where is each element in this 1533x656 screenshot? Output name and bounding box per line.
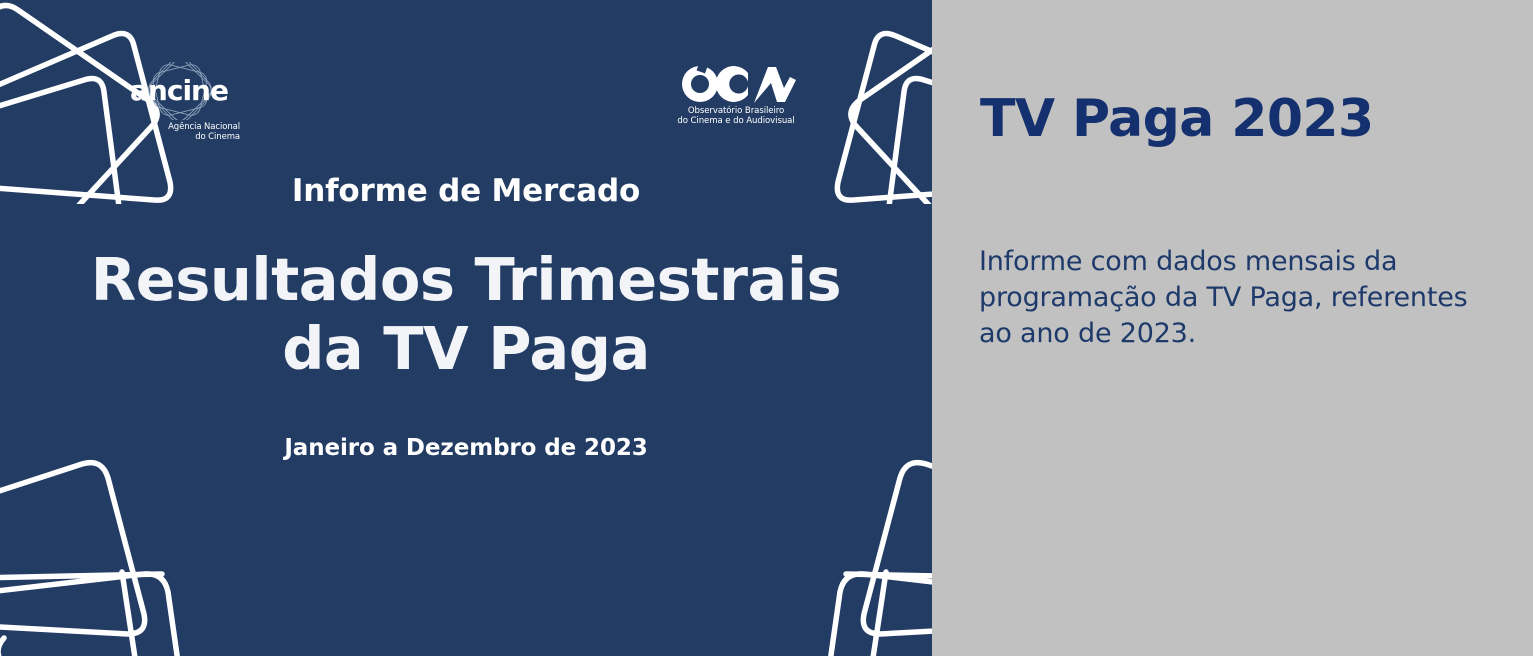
summary-title: TV Paga 2023 [980, 92, 1520, 147]
oca-letter-a [754, 67, 796, 103]
summary-description: Informe com dados mensais da programação… [979, 244, 1489, 353]
oca-logo-subtitle: Observatório Brasileiro do Cinema e do A… [672, 107, 800, 126]
ancine-subtitle-line-2: do Cinema [118, 133, 240, 143]
ancine-logo: ancine Agência Nacional do Cinema [118, 62, 240, 157]
oca-subtitle-line-2: do Cinema e do Audiovisual [672, 117, 800, 127]
right-gray-panel: TV Paga 2023 Informe com dados mensais d… [932, 0, 1533, 656]
decorative-lines-bottom-right-icon [784, 452, 932, 656]
ancine-logo-subtitle: Agência Nacional do Cinema [118, 123, 240, 142]
report-kicker: Informe de Mercado [292, 176, 640, 207]
oca-logo: Observatório Brasileiro do Cinema e do A… [672, 63, 800, 135]
oca-letter-c [716, 66, 748, 102]
decorative-lines-top-right-icon [784, 0, 932, 204]
report-period: Janeiro a Dezembro de 2023 [284, 435, 647, 461]
left-navy-panel: ancine Agência Nacional do Cinema Observ… [0, 0, 932, 656]
report-cover-banner: ancine Agência Nacional do Cinema Observ… [0, 0, 1533, 656]
ancine-wordmark: ancine [130, 74, 228, 107]
page-title: Resultados Trimestrais da TV Paga [91, 245, 841, 383]
page-title-line-2: da TV Paga [91, 314, 841, 383]
page-title-line-1: Resultados Trimestrais [91, 245, 841, 314]
decorative-lines-bottom-left-icon [0, 452, 224, 656]
